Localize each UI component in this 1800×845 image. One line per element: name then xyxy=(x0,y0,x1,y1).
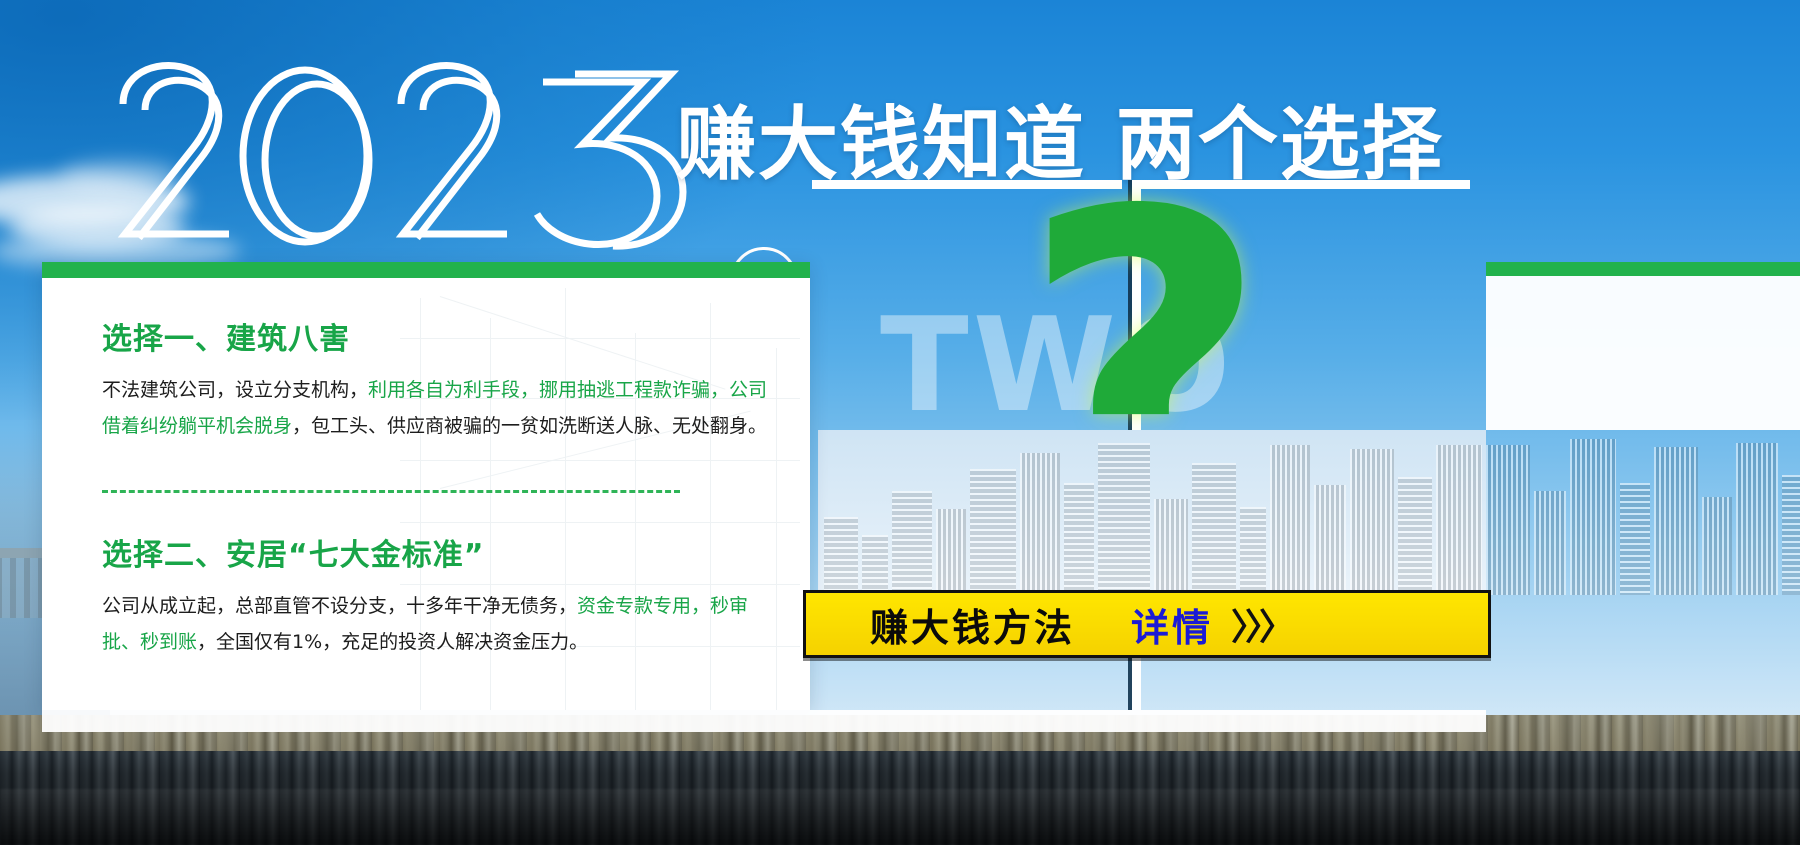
section-two-body: 公司从成立起，总部直管不设分支，十多年干净无债务，资金专款专用，秒审批、秒到账，… xyxy=(102,588,776,660)
bottom-cityscape-photo xyxy=(0,715,1800,845)
year-outline-svg xyxy=(105,52,745,267)
section-one-body: 不法建筑公司，设立分支机构，利用各自为利手段，挪用抽逃工程款诈骗，公司借着纠纷躺… xyxy=(102,372,776,444)
promo-banner: 年 赚大钱知道 两个选择 TWO choices ? xyxy=(0,0,1800,845)
section-divider xyxy=(102,490,680,493)
right-white-panel xyxy=(1486,276,1800,430)
card-bottom-white-strip xyxy=(42,710,1486,732)
cta-main-label: 赚大钱方法 xyxy=(870,597,1075,652)
section-two-title: 选择二、安居“七大金标准” xyxy=(102,530,776,574)
city-photo-panel-right xyxy=(1486,430,1800,595)
section-two: 选择二、安居“七大金标准” 公司从成立起，总部直管不设分支，十多年干净无债务，资… xyxy=(102,530,776,660)
section-two-text-a: 公司从成立起，总部直管不设分支，十多年干净无债务， xyxy=(102,595,577,617)
city-photo-panel xyxy=(818,430,1486,599)
chevron-right-icon: 〉〉〉 xyxy=(1231,598,1291,650)
section-one-text-c: ，包工头、供应商被骗的一贫如洗断送人脉、无处翻身。 xyxy=(292,415,767,437)
section-one-text-a: 不法建筑公司，设立分支机构， xyxy=(102,379,368,401)
cta-banner[interactable]: 赚大钱方法 详情 〉〉〉 xyxy=(803,590,1491,658)
section-two-text-c: ，全国仅有1%，充足的投资人解决资金压力。 xyxy=(197,631,588,653)
section-one-title: 选择一、建筑八害 xyxy=(102,314,776,358)
year-2023-graphic: 年 xyxy=(105,52,745,262)
card-green-top-bar xyxy=(42,262,810,278)
section-one: 选择一、建筑八害 不法建筑公司，设立分支机构，利用各自为利手段，挪用抽逃工程款诈… xyxy=(102,314,776,444)
right-green-accent-bar xyxy=(1486,262,1800,276)
city-photo-buildings xyxy=(818,430,1486,595)
content-card: 选择一、建筑八害 不法建筑公司，设立分支机构，利用各自为利手段，挪用抽逃工程款诈… xyxy=(42,262,810,710)
cta-detail-link[interactable]: 详情 xyxy=(1131,597,1213,652)
water-reflection xyxy=(0,789,1800,845)
